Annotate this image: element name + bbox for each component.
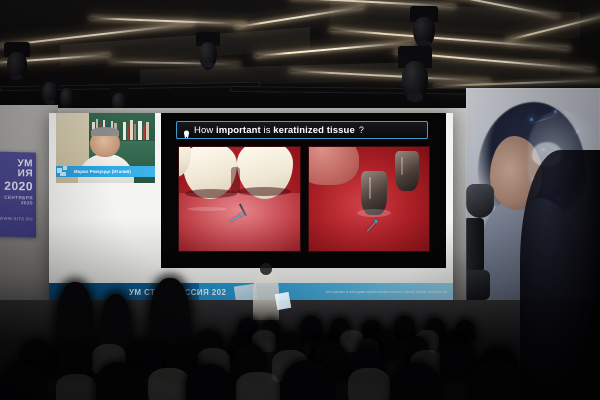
lighting-truss	[0, 82, 260, 92]
ceiling-camera-icon	[60, 88, 74, 110]
poster-line-4: СЕНТЯБРЯ 2020	[0, 195, 36, 205]
moving-head-light-icon	[40, 74, 60, 106]
moving-head-light-icon	[196, 32, 220, 70]
moving-head-light-icon	[398, 46, 432, 104]
chair	[148, 368, 190, 400]
speaker-hair	[91, 127, 119, 136]
event-poster: УМ ИЯ 2020 СЕНТЯБРЯ 2020 WWW.SITE.RU	[0, 151, 36, 237]
slide-title-box: How important is keratinized tissue ?	[176, 121, 428, 139]
slide-title-plain-1: How	[194, 125, 216, 136]
moving-head-light-icon	[410, 6, 438, 48]
slide-title-bold-2: keratinized tissue	[273, 125, 355, 136]
slide-title-bold-1: important	[216, 125, 261, 136]
clinical-photo-left: ⟶	[179, 147, 300, 251]
slide-title-plain-2: is	[261, 125, 274, 136]
chair	[56, 374, 96, 400]
question-mark-icon: ?	[359, 125, 364, 135]
banner-subtitle: Алгоритмы и методики аугментации мягких …	[326, 290, 447, 294]
led-strip-light	[110, 61, 240, 65]
broadcast-logo-icon	[56, 166, 72, 177]
seated-attendee	[282, 360, 332, 400]
slide-photo-row: ⟶ ⟶	[179, 147, 429, 251]
presentation-slide: How important is keratinized tissue ? ⟶	[161, 113, 446, 268]
seated-attendee	[186, 364, 232, 400]
seated-attendee	[392, 362, 440, 400]
poster-line-5: WWW.SITE.RU	[0, 216, 36, 221]
poster-line-3: 2020	[0, 179, 36, 192]
seated-attendee	[470, 360, 520, 400]
projection-screen: Марио Роккуццо (Италия) How important is…	[49, 113, 453, 305]
moving-head-light-icon	[4, 42, 30, 82]
annotation-arrow-icon: ⟶	[363, 217, 382, 236]
seated-attendee	[58, 344, 90, 378]
conference-hall-screenshot: УМ ИЯ 2020 СЕНТЯБРЯ 2020 WWW.SITE.RU	[0, 0, 600, 400]
foreground-silhouette	[520, 150, 600, 400]
slide-title-text: How important is keratinized tissue	[194, 125, 355, 136]
tooth-icon	[183, 126, 190, 135]
presenter-notes	[275, 292, 292, 310]
chair	[236, 372, 280, 400]
speaker-name-label: Марио Роккуццо (Италия)	[56, 166, 155, 177]
seated-attendee	[0, 364, 44, 400]
led-strip-light	[90, 17, 245, 25]
speaker-name-text: Марио Роккуццо (Италия)	[72, 169, 131, 174]
seated-attendee	[96, 362, 142, 400]
clinical-photo-right: ⟶	[309, 147, 430, 251]
chair	[348, 368, 390, 400]
webcam-feed: Марио Роккуццо (Италия)	[56, 113, 155, 183]
